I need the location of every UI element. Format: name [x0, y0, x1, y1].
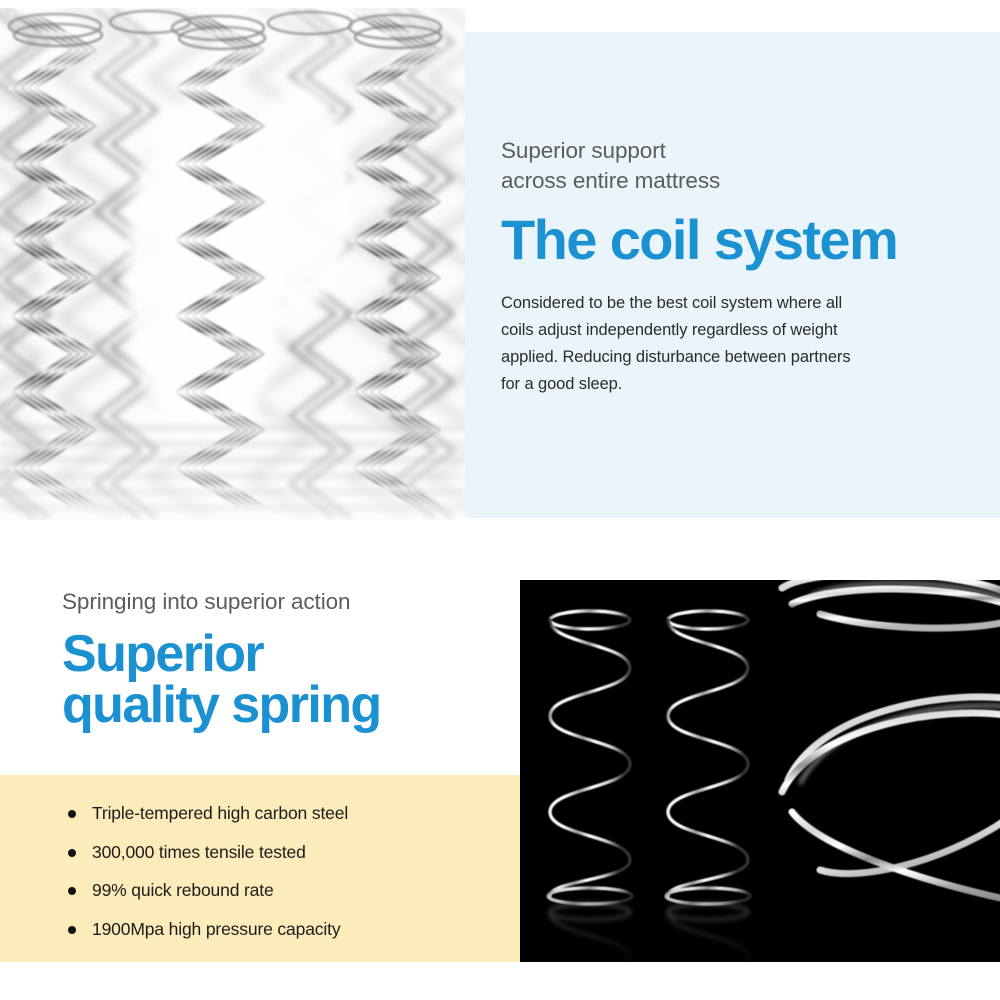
bottom-headline: Superior quality spring: [62, 629, 492, 732]
feature-bullet-list: Triple-tempered high carbon steel 300,00…: [62, 805, 492, 959]
bullet-dot-icon: [68, 926, 76, 934]
list-item: 1900Mpa high pressure capacity: [62, 921, 492, 939]
bullet-dot-icon: [68, 887, 76, 895]
list-item: 99% quick rebound rate: [62, 882, 492, 900]
coil-field-image: [0, 8, 465, 520]
bottom-kicker: Springing into superior action: [62, 588, 492, 615]
list-item: 300,000 times tensile tested: [62, 844, 492, 862]
top-headline: The coil system: [501, 212, 971, 268]
spring-closeup-image: [520, 580, 1000, 962]
top-text-block: Superior support across entire mattress …: [501, 136, 971, 397]
bullet-label: 99% quick rebound rate: [92, 880, 274, 900]
list-item: Triple-tempered high carbon steel: [62, 805, 492, 823]
top-body-copy: Considered to be the best coil system wh…: [501, 290, 971, 397]
infographic-page: Superior support across entire mattress …: [0, 0, 1000, 1000]
bullet-dot-icon: [68, 849, 76, 857]
bottom-text-block: Springing into superior action Superior …: [62, 588, 492, 732]
bullet-label: 300,000 times tensile tested: [92, 842, 306, 862]
bullet-label: 1900Mpa high pressure capacity: [92, 919, 340, 939]
bullet-label: Triple-tempered high carbon steel: [92, 803, 348, 823]
top-kicker: Superior support across entire mattress: [501, 136, 971, 195]
bullet-dot-icon: [68, 810, 76, 818]
